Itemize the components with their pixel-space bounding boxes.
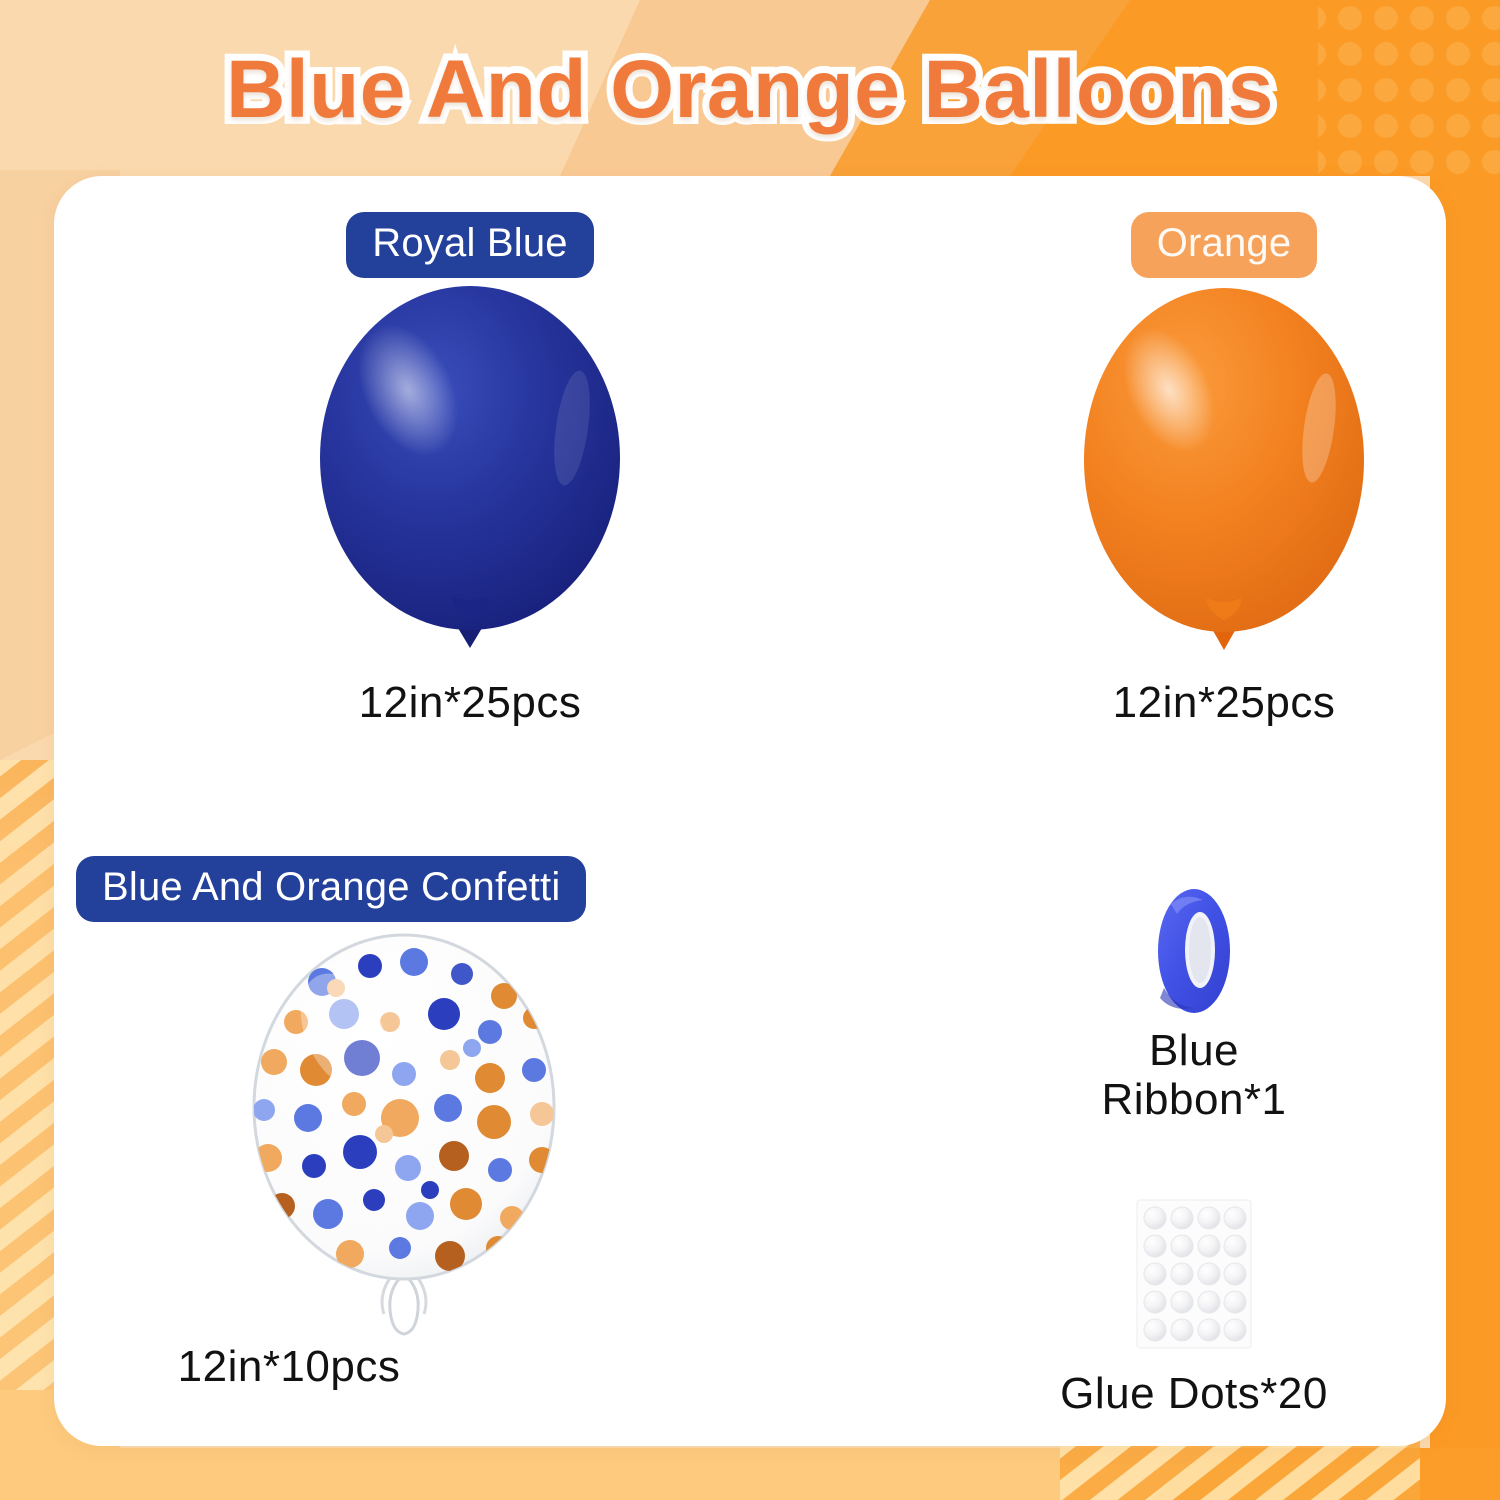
- item-royal-blue: Royal Blue 12in*25pcs: [230, 212, 710, 727]
- caption-royal-blue: 12in*25pcs: [230, 678, 710, 727]
- balloon-confetti-icon: [204, 922, 604, 1342]
- item-blue-ribbon: Blue Ribbon*1: [984, 876, 1404, 1125]
- product-card: Royal Blue 12in*25pcs: [54, 176, 1446, 1446]
- item-glue-dots: Glue Dots*20: [984, 1196, 1404, 1418]
- balloon-royal-blue-icon: [300, 278, 640, 678]
- item-orange: Orange 12in*25pcs: [984, 212, 1464, 727]
- item-confetti: Blue And Orange Confetti: [54, 856, 754, 1391]
- badge-confetti: Blue And Orange Confetti: [76, 856, 586, 922]
- balloon-orange-icon: [1069, 278, 1379, 678]
- badge-orange: Orange: [1131, 212, 1318, 278]
- caption-confetti: 12in*10pcs: [54, 1342, 524, 1391]
- confetti-label-wrap: Blue And Orange Confetti: [54, 856, 754, 922]
- orange-label-wrap: Orange: [984, 212, 1464, 278]
- royal-blue-label-wrap: Royal Blue: [230, 212, 710, 278]
- glue-dot-sheet-icon: [1129, 1196, 1259, 1351]
- page-title: Blue And Orange Balloons: [226, 49, 1274, 131]
- badge-royal-blue: Royal Blue: [346, 212, 593, 278]
- header: Blue And Orange Balloons: [0, 0, 1500, 175]
- ribbon-spool-icon: [1124, 876, 1264, 1026]
- caption-glue-dots: Glue Dots*20: [984, 1369, 1404, 1418]
- caption-blue-ribbon: Blue Ribbon*1: [984, 1026, 1404, 1125]
- caption-orange: 12in*25pcs: [984, 678, 1464, 727]
